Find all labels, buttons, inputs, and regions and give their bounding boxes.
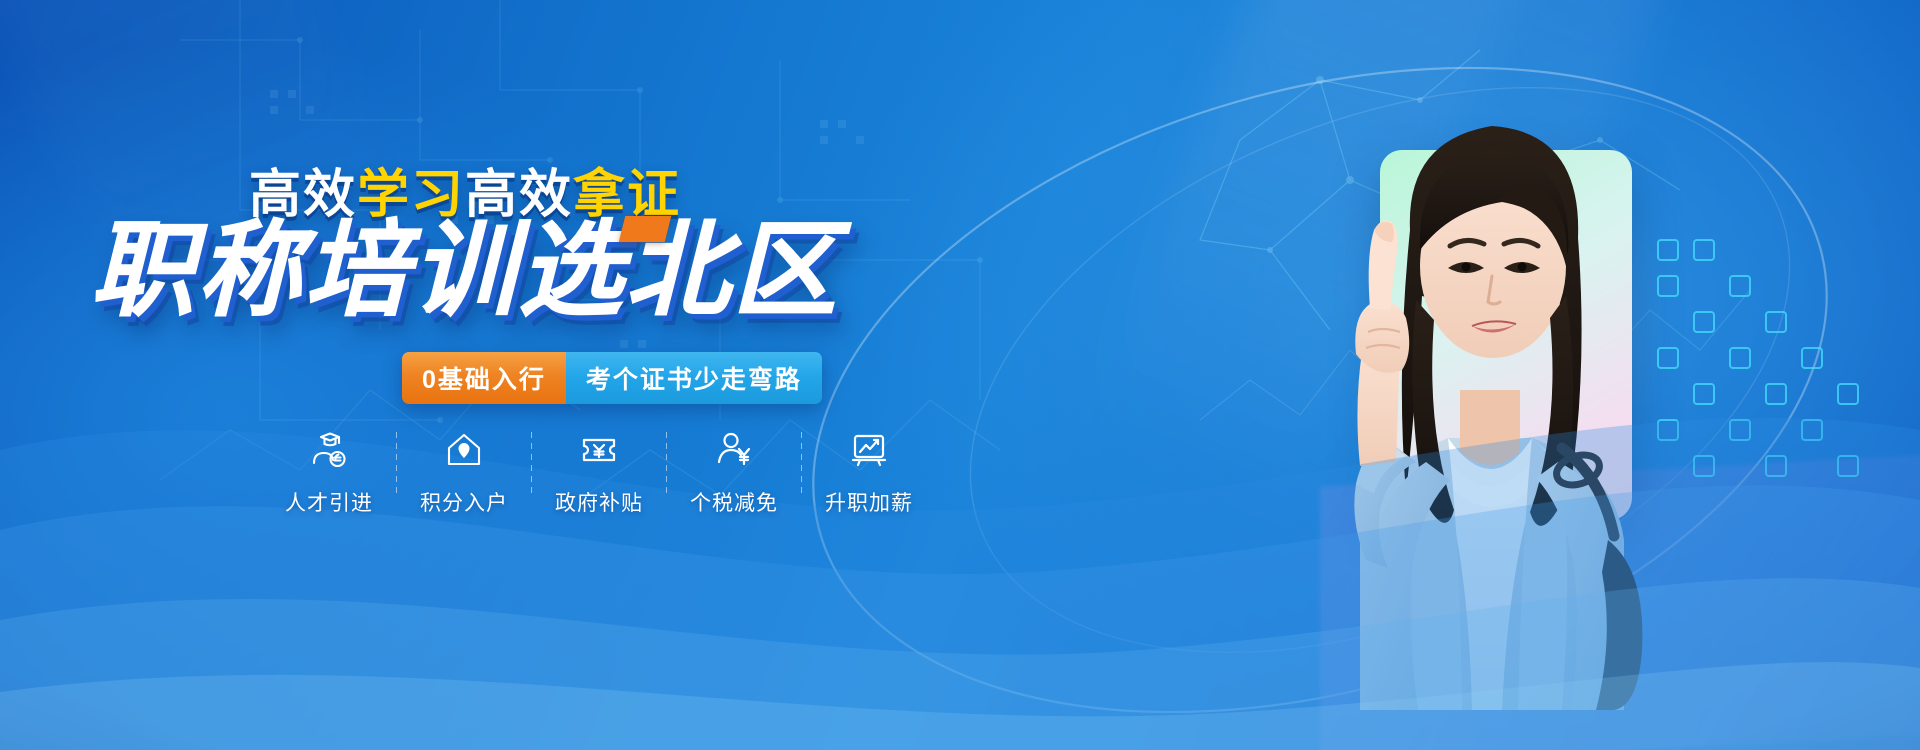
feature-divider [666,432,667,494]
feature-divider [801,432,802,494]
ticket-yuan-icon [578,428,620,472]
feature-item-promotion-raise[interactable]: 升职加薪 [802,428,936,517]
graduate-cap-person-icon [308,428,350,472]
house-location-pin-icon [443,428,485,472]
feature-divider [531,432,532,494]
feature-divider [396,432,397,494]
promo-banner: 高效学习高效拿证 职称培训选北区 0基础入行 考个证书少走弯路 [0,0,1920,750]
headline: 职称培训选北区 [0,218,930,324]
feature-item-points-residency[interactable]: 积分入户 [397,428,531,517]
feature-label: 人才引进 [285,487,373,517]
orange-accent-mark [619,216,671,242]
feature-label: 积分入户 [420,487,508,517]
tagline-pill: 0基础入行 考个证书少走弯路 [402,352,822,404]
copy-block: 高效学习高效拿证 职称培训选北区 0基础入行 考个证书少走弯路 [0,0,1000,750]
feature-item-tax-reduction[interactable]: 个税减免 [667,428,801,517]
person-yuan-icon [713,428,755,472]
feature-row: 人才引进 积分入户 [262,428,936,517]
feature-label: 政府补贴 [555,487,643,517]
feature-label: 升职加薪 [825,487,913,517]
feature-item-gov-subsidy[interactable]: 政府补贴 [532,428,666,517]
feature-item-talent-intro[interactable]: 人才引进 [262,428,396,517]
pill-right-label: 考个证书少走弯路 [566,352,822,404]
pill-left-label: 0基础入行 [402,352,566,404]
chart-board-up-icon [848,428,890,472]
headline-text: 职称培训选北区 [90,213,839,329]
feature-label: 个税减免 [690,487,778,517]
